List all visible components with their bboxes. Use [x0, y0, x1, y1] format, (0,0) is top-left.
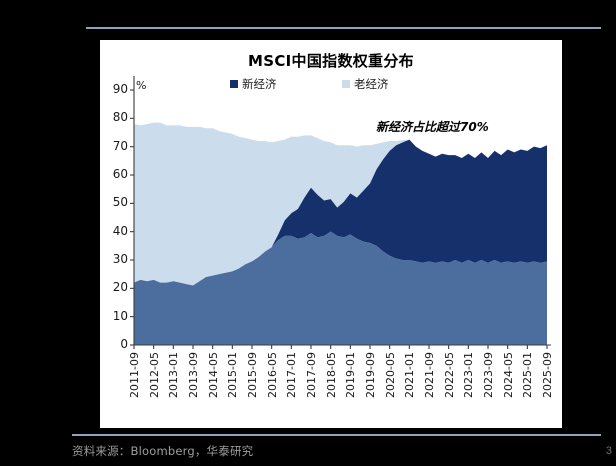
y-axis-tick: 50: [100, 195, 128, 209]
y-axis-tick: 40: [100, 224, 128, 238]
x-axis-tick: 2012-05: [148, 352, 161, 398]
x-axis-tick: 2011-09: [128, 352, 141, 398]
x-axis-tick: 2017-09: [305, 352, 318, 398]
x-axis-tick: 2019-01: [344, 352, 357, 398]
x-axis-tick: 2020-05: [384, 352, 397, 398]
screenshot-root: MSCI中国指数权重分布 新经济 老经济 % 新经济占比超过70% 010203…: [0, 0, 616, 466]
y-axis-tick: 20: [100, 280, 128, 294]
y-axis-tick: 0: [100, 337, 128, 351]
x-axis-tick: 2023-09: [482, 352, 495, 398]
y-axis-tick: 90: [100, 82, 128, 96]
x-axis-tick: 2021-01: [403, 352, 416, 398]
x-axis-tick: 2019-09: [364, 352, 377, 398]
y-axis-tick: 80: [100, 110, 128, 124]
x-axis-tick: 2023-01: [462, 352, 475, 398]
x-axis-tick: 2013-09: [187, 352, 200, 398]
x-axis-tick: 2021-09: [423, 352, 436, 398]
x-axis-tick: 2022-05: [443, 352, 456, 398]
y-axis-tick: 70: [100, 139, 128, 153]
page-mark: 3: [606, 440, 612, 462]
bottom-divider-rule: [72, 434, 601, 436]
y-axis-tick: 10: [100, 309, 128, 323]
x-axis-tick: 2025-01: [521, 352, 534, 398]
x-axis-tick: 2013-01: [167, 352, 180, 398]
x-axis-tick: 2014-05: [207, 352, 220, 398]
x-axis-tick: 2017-01: [285, 352, 298, 398]
chart-panel: MSCI中国指数权重分布 新经济 老经济 % 新经济占比超过70% 010203…: [100, 40, 562, 428]
x-axis-tick: 2015-01: [226, 352, 239, 398]
x-axis-tick: 2018-05: [325, 352, 338, 398]
x-axis-tick: 2025-09: [541, 352, 554, 398]
x-axis-tick: 2024-05: [502, 352, 515, 398]
y-axis-tick: 60: [100, 167, 128, 181]
x-axis-tick: 2016-05: [266, 352, 279, 398]
x-axis-tick: 2015-09: [246, 352, 259, 398]
source-footnote: 资料来源：Bloomberg，华泰研究: [72, 440, 492, 462]
top-divider-rule: [86, 27, 601, 29]
y-axis-tick: 30: [100, 252, 128, 266]
